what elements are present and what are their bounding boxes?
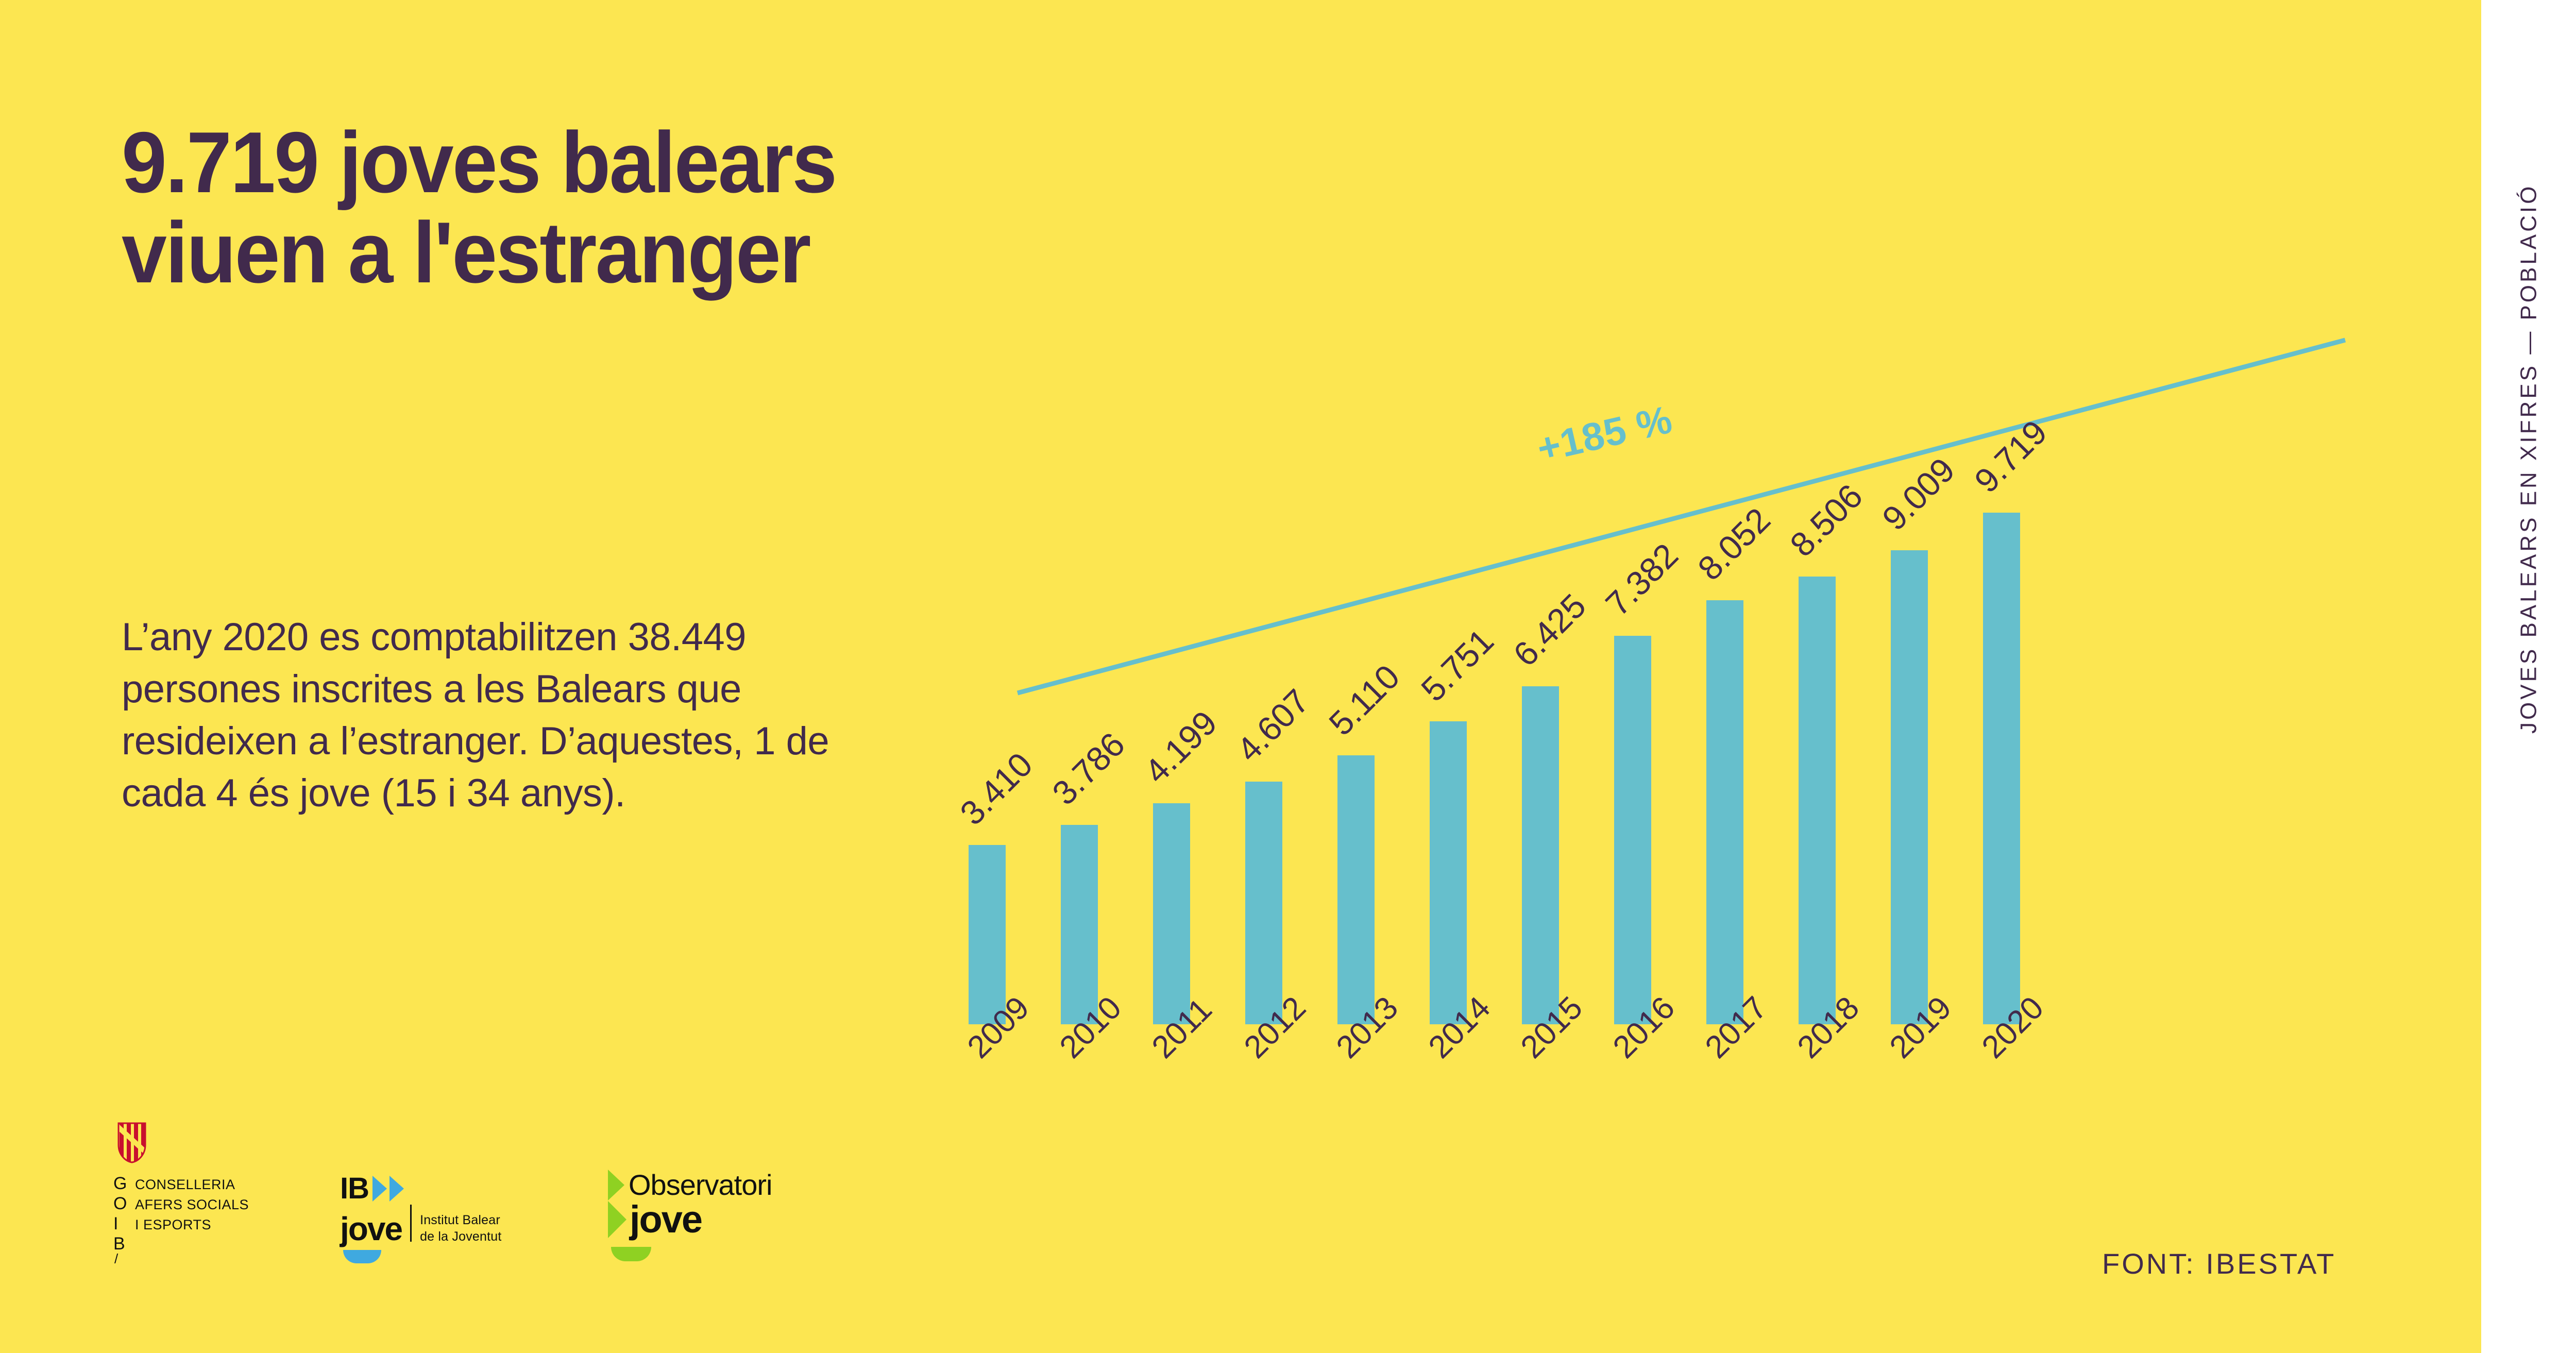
observatori-jove-wordmark: jove: [630, 1200, 702, 1239]
ibjove-jove-wordmark: jove: [340, 1213, 402, 1245]
play-arrow-icon: [608, 1201, 626, 1238]
page-title: 9.719 joves balears viuen a l'estranger: [122, 117, 1284, 297]
bars-plot-area: 3.41020093.78620104.19920114.60720125.11…: [943, 289, 2437, 1092]
side-rail-label: JOVES BALEARS EN XIFRES — POBLACIÓ: [2481, 0, 2576, 917]
bar-2009: [969, 845, 1006, 1024]
bar-2020: [1983, 513, 2020, 1024]
bar-2013: [1337, 755, 1375, 1024]
goib-row: G CONSELLERIA: [113, 1174, 309, 1194]
play-arrow-icon: [372, 1176, 387, 1202]
ibjove-arrows: [372, 1176, 404, 1202]
goib-row: O AFERS SOCIALS: [113, 1194, 309, 1214]
ibjove-subtitle-line-1: Institut Balear: [420, 1212, 501, 1228]
bar-value-label: 9.009: [1874, 450, 1962, 538]
bar-value-label: 7.382: [1598, 535, 1686, 623]
bar-value-label: 8.052: [1690, 500, 1778, 588]
bar-2017: [1706, 600, 1743, 1024]
bar-2011: [1153, 803, 1190, 1024]
goib-letter: I: [113, 1214, 135, 1234]
bar-value-label: 5.751: [1413, 621, 1501, 709]
play-arrow-icon: [608, 1170, 624, 1200]
bar-2016: [1614, 636, 1651, 1024]
goib-slash-mark: /: [114, 1251, 118, 1267]
bar-value-label: 4.607: [1229, 681, 1317, 769]
ibjove-top-row: IB: [340, 1174, 515, 1204]
bar-value-label: 9.719: [1967, 412, 2055, 500]
ibjove-ib-wordmark: IB: [340, 1174, 369, 1204]
observatori-smile-icon: [611, 1247, 651, 1261]
logo-goib: G CONSELLERIA O AFERS SOCIALS I I ESPORT…: [113, 1118, 309, 1267]
goib-shield-icon: [117, 1122, 146, 1163]
bar-value-label: 6.425: [1505, 586, 1594, 674]
bar-2015: [1522, 686, 1559, 1024]
observatori-top-row: Observatori: [608, 1170, 824, 1200]
bar-2010: [1061, 825, 1098, 1024]
infographic-canvas: 9.719 joves balears viuen a l'estranger …: [0, 0, 2576, 1353]
play-arrow-icon: [389, 1176, 404, 1202]
goib-line: AFERS SOCIALS: [135, 1197, 249, 1213]
bar-value-label: 4.199: [1137, 703, 1225, 791]
ibjove-subtitle: Institut Balear de la Joventut: [420, 1212, 501, 1245]
observatori-bottom-row: jove: [608, 1200, 824, 1239]
goib-row: B: [113, 1234, 309, 1254]
logo-observatori-jove: Observatori jove: [608, 1170, 824, 1267]
bar-value-label: 5.110: [1321, 657, 1407, 743]
ibjove-subtitle-line-2: de la Joventut: [420, 1228, 501, 1245]
goib-text-block: G CONSELLERIA O AFERS SOCIALS I I ESPORT…: [113, 1174, 309, 1254]
bar-2012: [1245, 782, 1282, 1024]
bar-2019: [1891, 550, 1928, 1024]
lede-paragraph: L’any 2020 es comptabilitzen 38.449 pers…: [122, 611, 874, 819]
bar-value-label: 8.506: [1782, 476, 1870, 564]
bar-value-label: 3.410: [952, 745, 1040, 833]
bar-chart: +185 % 3.41020093.78620104.19920114.6072…: [943, 289, 2437, 1092]
source-note: FONT: IBESTAT: [2102, 1247, 2336, 1280]
bar-value-label: 3.786: [1044, 724, 1132, 813]
headline-line-2: viuen a l'estranger: [122, 208, 1284, 298]
goib-line: I ESPORTS: [135, 1217, 211, 1233]
ibjove-smile-icon: [343, 1250, 381, 1263]
bar-2018: [1799, 577, 1836, 1024]
divider: [410, 1205, 412, 1242]
logo-ibjove: IB jove Institut Balear de la Joventut: [340, 1174, 515, 1266]
goib-row: I I ESPORTS: [113, 1214, 309, 1234]
goib-letter: O: [113, 1194, 135, 1214]
goib-letter: G: [113, 1174, 135, 1194]
headline-line-1: 9.719 joves balears: [122, 114, 836, 211]
observatori-wordmark: Observatori: [629, 1171, 772, 1199]
goib-line: CONSELLERIA: [135, 1177, 235, 1193]
bar-2014: [1430, 721, 1467, 1024]
ibjove-bottom-row: jove Institut Balear de la Joventut: [340, 1205, 515, 1245]
